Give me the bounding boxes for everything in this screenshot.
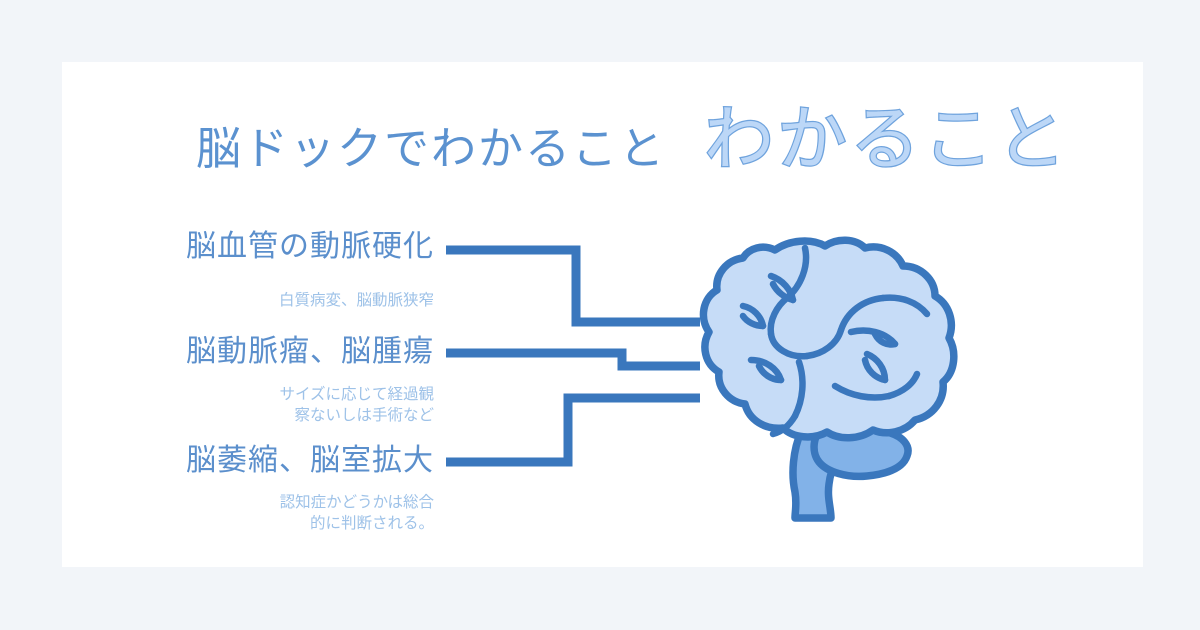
brain-illustration xyxy=(655,236,965,526)
callout-label-2: 脳動脈瘤、脳腫瘍 xyxy=(186,337,434,367)
callout-sub-1: 白質病変、脳動脈狭窄 xyxy=(279,291,434,312)
overlay-title: わかること xyxy=(704,104,1069,174)
callout-label-1: 脳血管の動脈硬化 xyxy=(186,232,434,262)
slide-canvas: 脳ドックでわかること わかること 脳血管の動脈硬化 白質病変、脳動脈狭窄 脳動脈… xyxy=(0,0,1200,630)
callout-sub-2: サイズに応じて経過観 察ないしは手術など xyxy=(279,385,434,427)
cortex-shape xyxy=(703,240,953,438)
callout-sub-3: 認知症かどうかは総合 的に判断される。 xyxy=(280,493,434,535)
callout-label-3: 脳萎縮、脳室拡大 xyxy=(186,446,434,476)
page-title: 脳ドックでわかること xyxy=(196,126,666,171)
